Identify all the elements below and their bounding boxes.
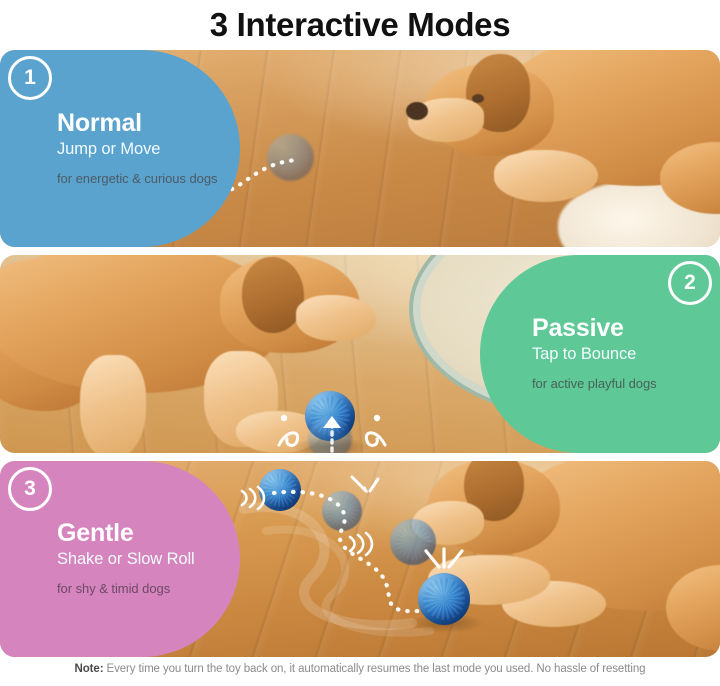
dog-paw [494,150,598,202]
ball-trail-2 [267,134,314,181]
dog-hind-leg [80,355,146,453]
mode-title: Normal [57,110,226,136]
dog-ear [242,257,304,333]
ball-trail-1 [308,417,352,453]
mode-subtitle: Shake or Slow Roll [57,550,226,569]
mode-description: for active playful dogs [532,375,706,392]
footer-note-label: Note: [75,663,104,675]
mode-badge-1: 1 [8,56,52,100]
infographic-page: 3 Interactive Modes [0,0,720,686]
mode-title: Gentle [57,520,226,546]
mode-title: Passive [532,315,706,341]
mode-badge-3: 3 [8,467,52,511]
dog-nose [406,102,428,120]
mode-badge-2: 2 [668,261,712,305]
dog-photo [410,50,720,246]
ball-trail-1 [259,469,301,511]
mode-subtitle: Tap to Bounce [532,345,706,364]
mode-panel-gentle: Gentle Shake or Slow Roll for shy & timi… [0,461,720,657]
dog-muzzle [296,295,376,341]
ball-primary [418,573,470,625]
footer-note: Note: Every time you turn the toy back o… [0,663,720,675]
mode-panel-passive: Passive Tap to Bounce for active playful… [0,255,720,453]
mode-panel-normal: Normal Jump or Move for energetic & curi… [0,50,720,247]
mode-description: for energetic & curious dogs [57,170,226,187]
dog-eye [472,94,484,103]
ball-trail-3 [390,519,436,565]
footer-note-text: Every time you turn the toy back on, it … [103,663,645,675]
mode-description: for shy & timid dogs [57,580,226,597]
page-title: 3 Interactive Modes [0,0,720,50]
mode-subtitle: Jump or Move [57,140,226,159]
ball-trail-2 [322,491,362,531]
